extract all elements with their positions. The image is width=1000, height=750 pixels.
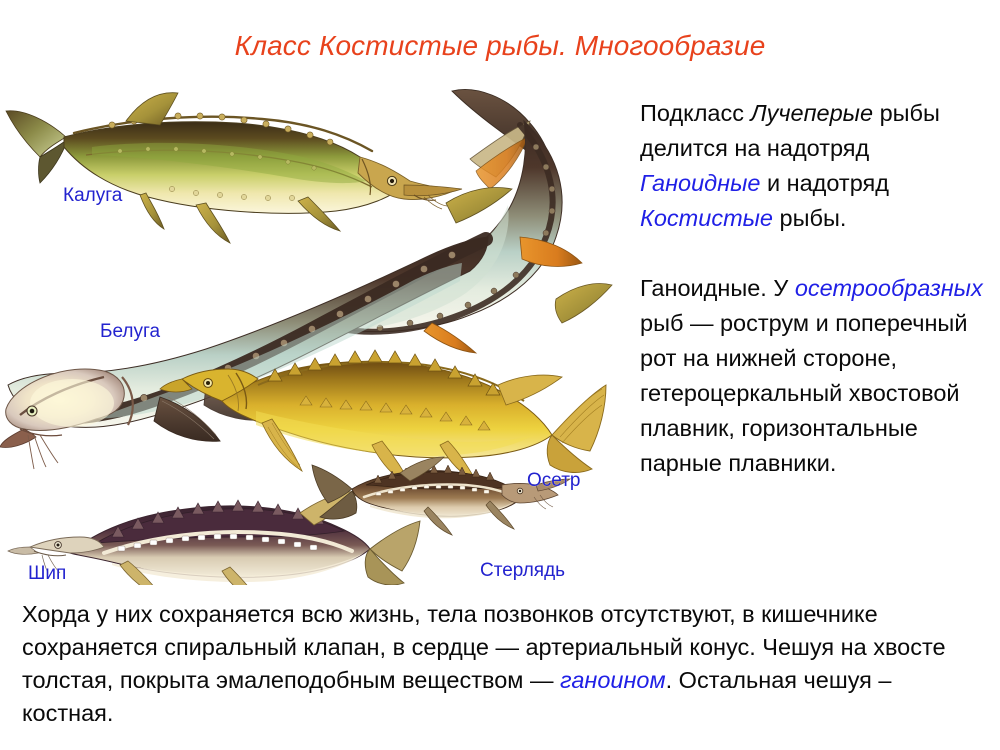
sturgeon-illustration: Калуга Белуга Осетр Стерлядь Шип	[0, 85, 620, 585]
fish-label-osetr: Осетр	[527, 470, 580, 492]
fish-label-beluga: Белуга	[100, 321, 160, 343]
p3-term-ganoin: ганоином	[560, 667, 666, 693]
fish-kaluga	[6, 93, 462, 243]
p1-part1: Подкласс	[640, 100, 751, 126]
fish-label-sterlyad: Стерлядь	[480, 560, 565, 582]
p1-part3: и надотряд	[760, 170, 889, 196]
fish-osetr	[160, 350, 606, 487]
paragraph-subclass: Подкласс Лучеперые рыбы делится на надот…	[640, 96, 988, 236]
p2-part2: рыб — рострум и поперечный рот на нижней…	[640, 310, 967, 476]
p1-term-lucheperye: Лучеперые	[751, 100, 874, 126]
paragraph-chorda: Хорда у них сохраняется всю жизнь, тела …	[22, 598, 977, 730]
fish-label-ship: Шип	[28, 563, 66, 585]
bottom-text-block: Хорда у них сохраняется всю жизнь, тела …	[22, 598, 977, 730]
paragraph-ganoidnye: Ганоидные. У осетрообразных рыб — ростру…	[640, 271, 988, 481]
p1-term-ganoidnye: Ганоидные	[640, 170, 760, 196]
p1-part4: рыбы.	[773, 205, 846, 231]
right-text-column: Подкласс Лучеперые рыбы делится на надот…	[640, 96, 988, 481]
p2-term-osetroobraznyh: осетрообразных	[795, 275, 983, 301]
fish-label-kaluga: Калуга	[63, 185, 122, 207]
fish-sterlyad	[312, 457, 570, 535]
p1-term-kostistye: Костистые	[640, 205, 773, 231]
slide-root: Класс Костистые рыбы. Многообразие	[0, 0, 1000, 750]
p2-part1: Ганоидные. У	[640, 275, 795, 301]
fish-ship	[8, 491, 420, 585]
page-title: Класс Костистые рыбы. Многообразие	[0, 30, 1000, 62]
